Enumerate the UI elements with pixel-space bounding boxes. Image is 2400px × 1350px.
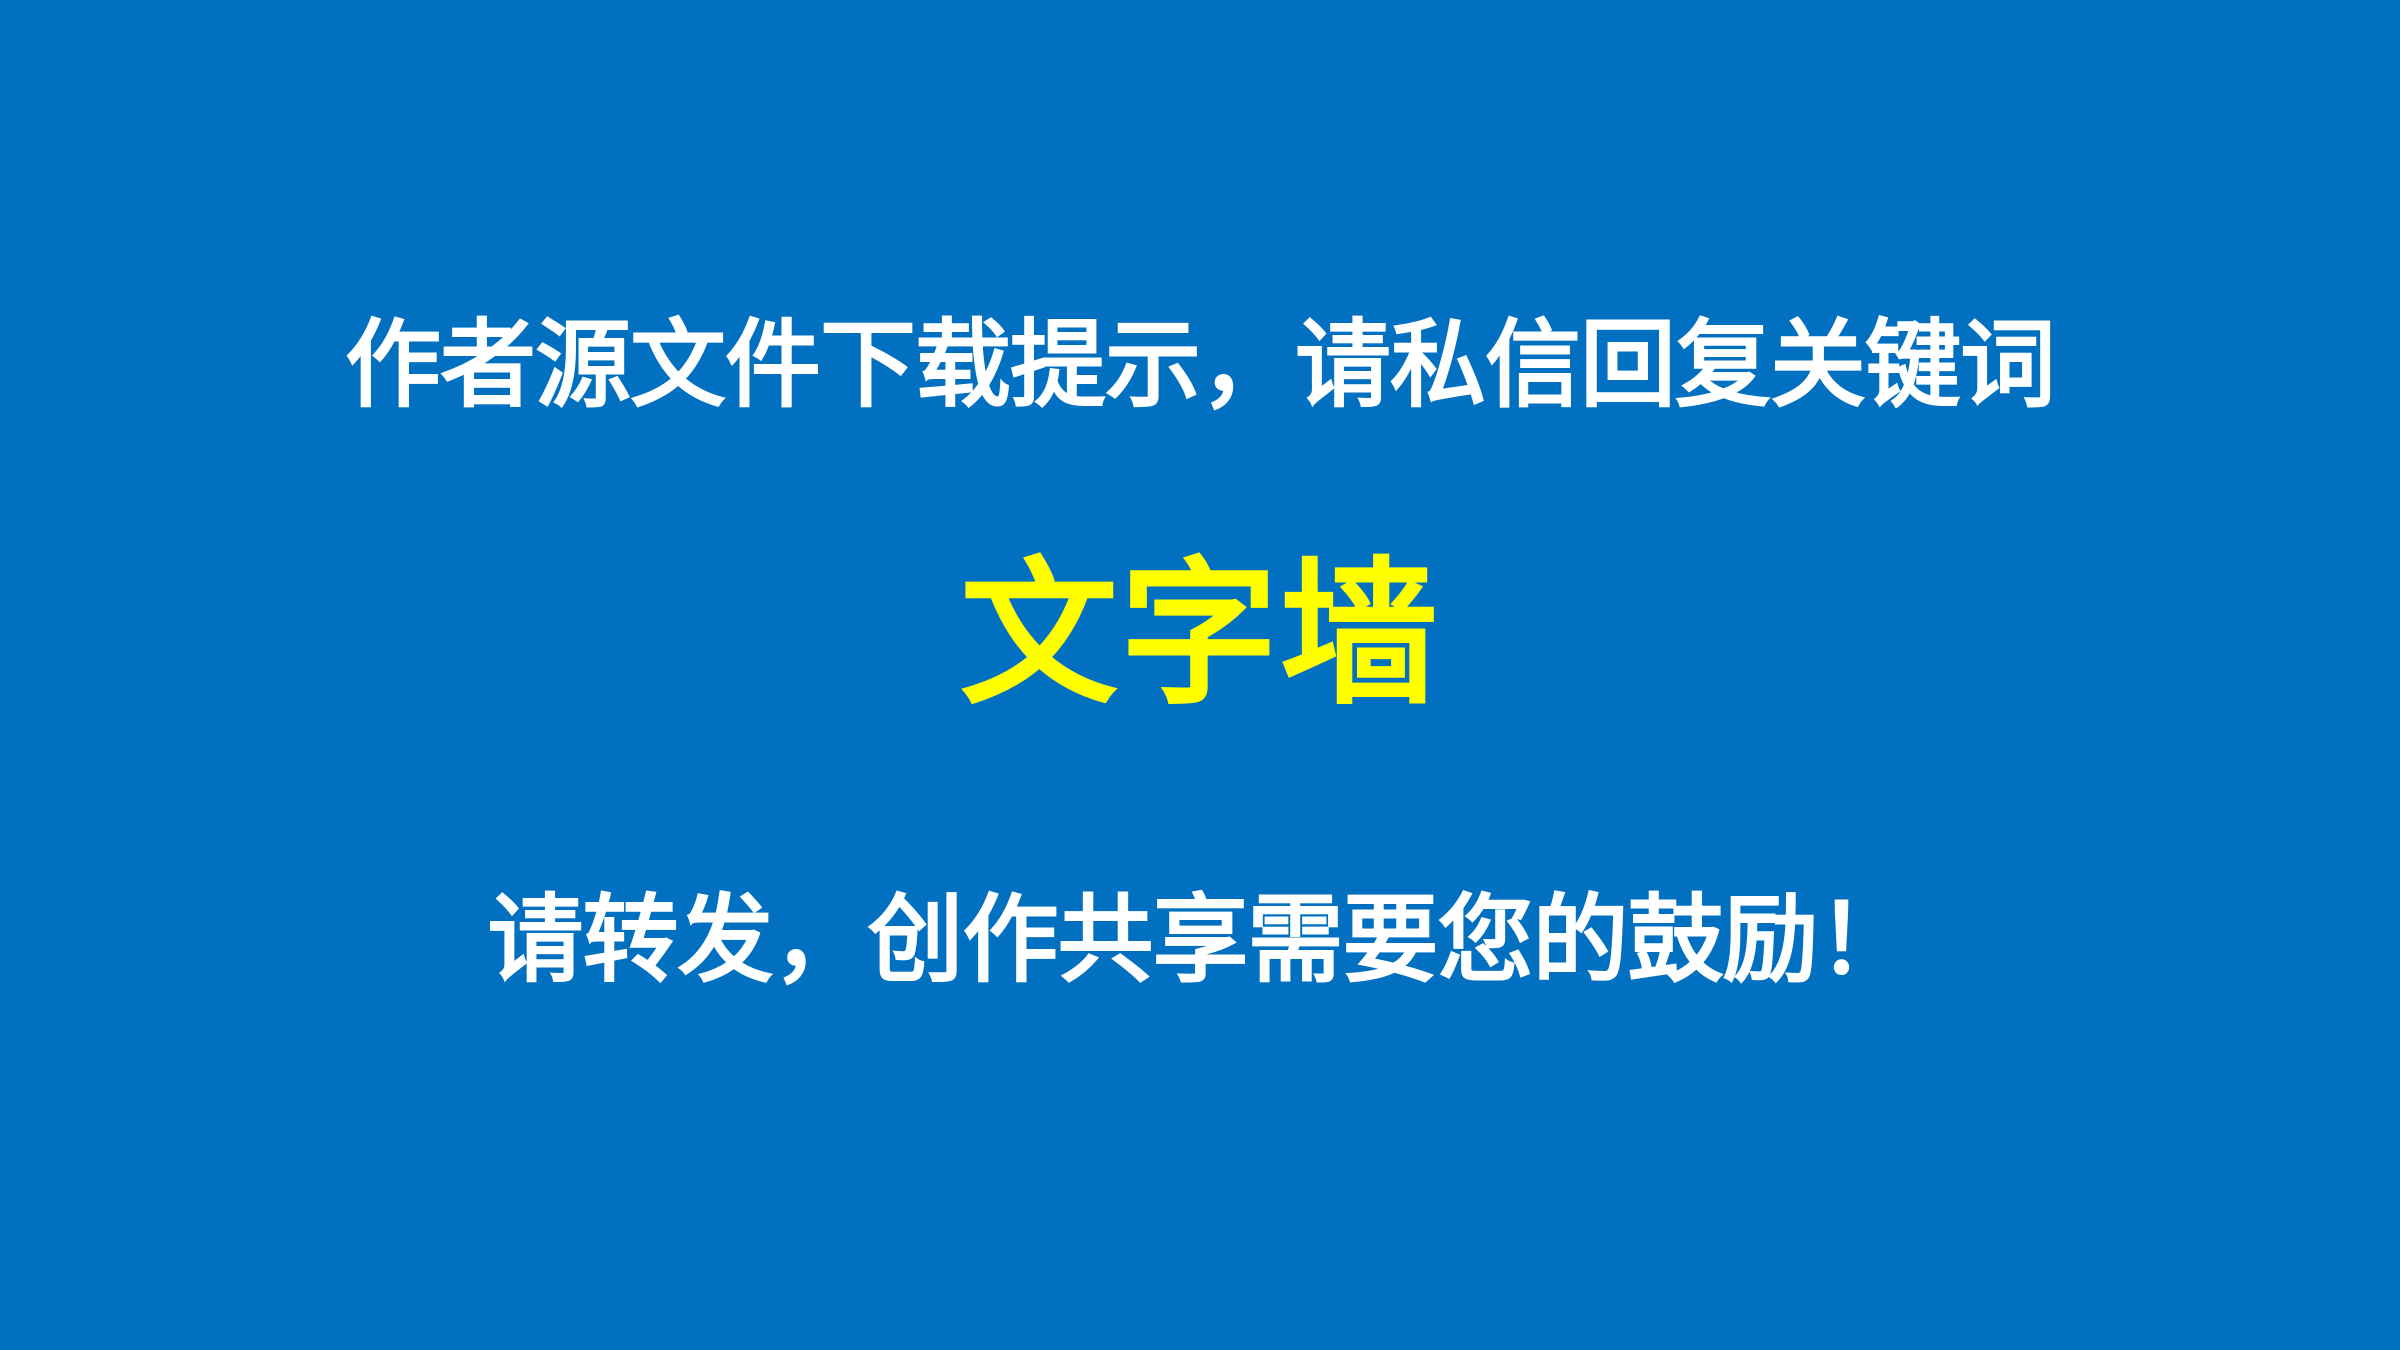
headline-text: 作者源文件下载提示，请私信回复关键词 [0,318,2400,430]
call-to-action-text: 请转发，创作共享需要您的鼓励！ [0,893,2400,1005]
slide-canvas: 作者源文件下载提示，请私信回复关键词 文字墙 请转发，创作共享需要您的鼓励！ [0,0,2400,1350]
keyword-text: 文字墙 [0,556,2400,732]
text-stack: 作者源文件下载提示，请私信回复关键词 文字墙 请转发，创作共享需要您的鼓励！ [0,0,2400,1350]
